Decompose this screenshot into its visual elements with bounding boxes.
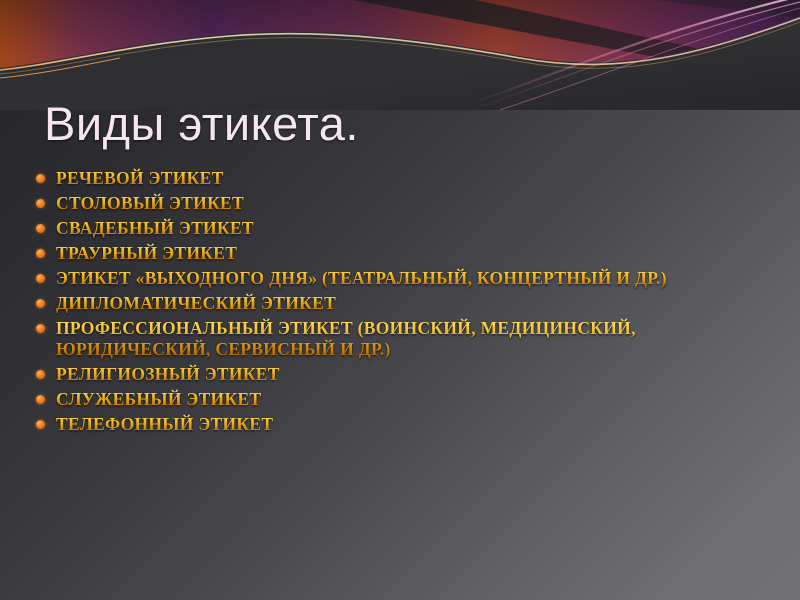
list-item: ТРАУРНЫЙ ЭТИКЕТ [36,243,736,264]
list-item-label: РЕЛИГИОЗНЫЙ ЭТИКЕТ [56,364,736,385]
list-item: РЕЧЕВОЙ ЭТИКЕТ [36,168,736,189]
page-title: Виды этикета. [44,96,359,151]
bullet-dot-icon [36,274,45,283]
list-item-label: СТОЛОВЫЙ ЭТИКЕТ [56,193,736,214]
bullet-dot-icon [36,324,45,333]
decorative-swoosh-banner [0,0,800,110]
list-item-label: РЕЧЕВОЙ ЭТИКЕТ [56,168,736,189]
list-item: ПРОФЕССИОНАЛЬНЫЙ ЭТИКЕТ (ВОИНСКИЙ, МЕДИЦ… [36,318,736,360]
list-item-label: ДИПЛОМАТИЧЕСКИЙ ЭТИКЕТ [56,293,736,314]
bullet-dot-icon [36,420,45,429]
etiquette-type-list: РЕЧЕВОЙ ЭТИКЕТ СТОЛОВЫЙ ЭТИКЕТ СВАДЕБНЫЙ… [36,168,736,439]
bullet-dot-icon [36,370,45,379]
list-item: РЕЛИГИОЗНЫЙ ЭТИКЕТ [36,364,736,385]
bullet-dot-icon [36,199,45,208]
bullet-dot-icon [36,299,45,308]
list-item: СВАДЕБНЫЙ ЭТИКЕТ [36,218,736,239]
list-item-label: ЭТИКЕТ «ВЫХОДНОГО ДНЯ» (ТЕАТРАЛЬНЫЙ, КОН… [56,268,736,289]
bullet-dot-icon [36,395,45,404]
presentation-slide: Виды этикета. РЕЧЕВОЙ ЭТИКЕТ СТОЛОВЫЙ ЭТ… [0,0,800,600]
list-item-label: СЛУЖЕБНЫЙ ЭТИКЕТ [56,389,736,410]
bullet-dot-icon [36,224,45,233]
list-item: ЭТИКЕТ «ВЫХОДНОГО ДНЯ» (ТЕАТРАЛЬНЫЙ, КОН… [36,268,736,289]
list-item: ДИПЛОМАТИЧЕСКИЙ ЭТИКЕТ [36,293,736,314]
banner-artwork [0,0,800,110]
list-item-label: ТЕЛЕФОННЫЙ ЭТИКЕТ [56,414,736,435]
bullet-dot-icon [36,249,45,258]
list-item: СТОЛОВЫЙ ЭТИКЕТ [36,193,736,214]
list-item: СЛУЖЕБНЫЙ ЭТИКЕТ [36,389,736,410]
list-item-label: ТРАУРНЫЙ ЭТИКЕТ [56,243,736,264]
list-item-label: ПРОФЕССИОНАЛЬНЫЙ ЭТИКЕТ (ВОИНСКИЙ, МЕДИЦ… [56,318,736,360]
list-item: ТЕЛЕФОННЫЙ ЭТИКЕТ [36,414,736,435]
list-item-label: СВАДЕБНЫЙ ЭТИКЕТ [56,218,736,239]
bullet-dot-icon [36,174,45,183]
